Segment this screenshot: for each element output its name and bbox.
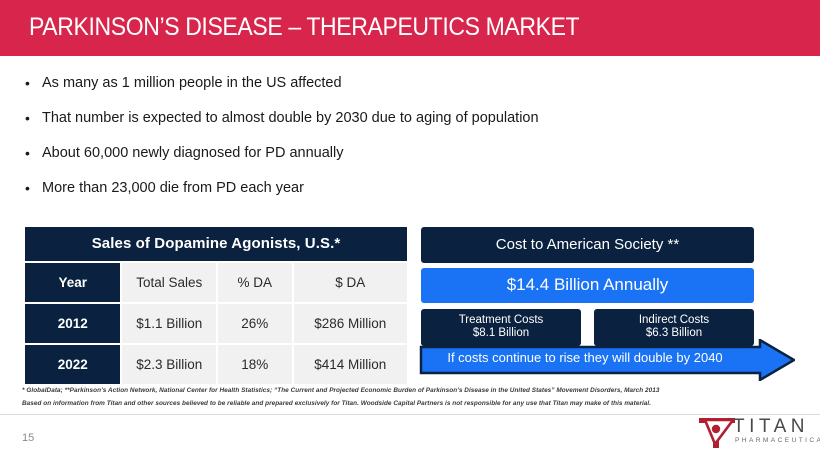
- cost-panel: Cost to American Society ** $14.4 Billio…: [421, 227, 754, 346]
- list-item: • That number is expected to almost doub…: [22, 111, 642, 126]
- column-header-total-sales: Total Sales: [122, 263, 216, 302]
- cell-percent-da: 18%: [218, 345, 292, 384]
- table-row: 2022 $2.3 Billion 18% $414 Million: [25, 345, 407, 384]
- table-row: 2012 $1.1 Billion 26% $286 Million: [25, 304, 407, 343]
- titan-wordmark: TITAN: [733, 416, 809, 438]
- page-number: 15: [22, 432, 34, 444]
- cell-dollar-da: $286 Million: [294, 304, 407, 343]
- slide-canvas: PARKINSON’S DISEASE – THERAPEUTICS MARKE…: [0, 0, 820, 461]
- footnote-disclaimer: Based on information from Titan and othe…: [22, 400, 651, 407]
- cell-total-sales: $2.3 Billion: [122, 345, 216, 384]
- sales-table-title: Sales of Dopamine Agonists, U.S.*: [25, 227, 407, 261]
- list-item-text: That number is expected to almost double…: [42, 110, 539, 126]
- bullet-marker-icon: •: [25, 146, 30, 161]
- list-item-text: As many as 1 million people in the US af…: [42, 75, 342, 91]
- cell-dollar-da: $414 Million: [294, 345, 407, 384]
- column-header-dollar-da: $ DA: [294, 263, 407, 302]
- projection-arrow: If costs continue to rise they will doub…: [415, 339, 795, 381]
- bullet-marker-icon: •: [25, 111, 30, 126]
- cell-total-sales: $1.1 Billion: [122, 304, 216, 343]
- cell-year: 2012: [25, 304, 120, 343]
- cost-amount-badge: $14.4 Billion Annually: [421, 268, 754, 303]
- indirect-costs-label: Indirect Costs: [594, 314, 754, 327]
- list-item-text: More than 23,000 die from PD each year: [42, 180, 304, 196]
- bullet-marker-icon: •: [25, 76, 30, 91]
- title-band: PARKINSON’S DISEASE – THERAPEUTICS MARKE…: [0, 0, 820, 56]
- table-header-row: Year Total Sales % DA $ DA: [25, 263, 407, 302]
- projection-arrow-label: If costs continue to rise they will doub…: [415, 350, 755, 365]
- cell-year: 2022: [25, 345, 120, 384]
- titan-mark-icon: [693, 414, 737, 452]
- titan-subtitle: PHARMACEUTICALS: [735, 437, 820, 444]
- cell-percent-da: 26%: [218, 304, 292, 343]
- list-item: • As many as 1 million people in the US …: [22, 76, 642, 91]
- footnote-sources: * GlobalData; **Parkinson’s Action Netwo…: [22, 387, 659, 394]
- list-item: • More than 23,000 die from PD each year: [22, 181, 642, 196]
- bullet-list: • As many as 1 million people in the US …: [22, 76, 642, 216]
- cost-panel-title: Cost to American Society **: [421, 227, 754, 263]
- treatment-costs-label: Treatment Costs: [421, 314, 581, 327]
- column-header-percent-da: % DA: [218, 263, 292, 302]
- titan-logo: TITAN PHARMACEUTICALS: [693, 414, 815, 454]
- bullet-marker-icon: •: [25, 181, 30, 196]
- list-item-text: About 60,000 newly diagnosed for PD annu…: [42, 145, 343, 161]
- column-header-year: Year: [25, 263, 120, 302]
- list-item: • About 60,000 newly diagnosed for PD an…: [22, 146, 642, 161]
- sales-table: Sales of Dopamine Agonists, U.S.* Year T…: [25, 227, 407, 384]
- page-title: PARKINSON’S DISEASE – THERAPEUTICS MARKE…: [29, 13, 579, 42]
